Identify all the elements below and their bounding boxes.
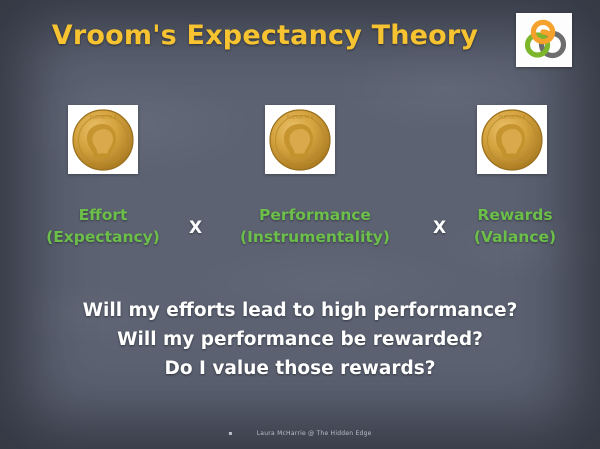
question-block: Will my efforts lead to high performance… [0, 296, 600, 383]
footer-mark-icon: ▪ [228, 430, 232, 437]
footer-credit: ▪Laura McHarrie @ The Hidden Edge [0, 430, 600, 437]
coin-image-rewards: ELIZABETH II BRITTONIARUM [477, 105, 547, 174]
slide-canvas: Vroom's Expectancy Theory [0, 0, 600, 449]
term-main-label: Effort [79, 206, 128, 224]
formula-term-effort: Effort (Expectancy) [10, 204, 196, 248]
svg-text:ELIZABETH II: ELIZABETH II [90, 114, 116, 119]
svg-text:ELIZABETH II: ELIZABETH II [287, 114, 313, 119]
term-main-label: Performance [259, 206, 371, 224]
formula-term-performance: Performance (Instrumentality) [205, 204, 425, 248]
question-line-1: Will my efforts lead to high performance… [0, 296, 600, 325]
page-title: Vroom's Expectancy Theory [0, 20, 530, 51]
the-hidden-edge-logo [516, 13, 572, 67]
formula-term-rewards: Rewards (Valance) [440, 204, 590, 248]
svg-text:ELIZABETH II: ELIZABETH II [499, 114, 525, 119]
gold-sovereign-coin-icon: ELIZABETH II BRITTONIARUM [72, 109, 134, 171]
gold-sovereign-coin-icon: ELIZABETH II BRITTONIARUM [269, 109, 331, 171]
question-line-2: Will my performance be rewarded? [0, 325, 600, 354]
term-sub-label: (Instrumentality) [205, 226, 425, 248]
term-sub-label: (Expectancy) [10, 226, 196, 248]
svg-text:BRITTONIARUM: BRITTONIARUM [496, 162, 528, 167]
question-line-3: Do I value those rewards? [0, 354, 600, 383]
footer-credit-text: Laura McHarrie @ The Hidden Edge [257, 430, 372, 437]
svg-text:BRITTONIARUM: BRITTONIARUM [284, 162, 316, 167]
coin-image-effort: ELIZABETH II BRITTONIARUM [68, 105, 138, 174]
term-main-label: Rewards [477, 206, 552, 224]
interlocking-rings-icon [522, 19, 566, 61]
term-sub-label: (Valance) [440, 226, 590, 248]
gold-sovereign-coin-icon: ELIZABETH II BRITTONIARUM [481, 109, 543, 171]
svg-text:BRITTONIARUM: BRITTONIARUM [87, 162, 119, 167]
coin-image-performance: ELIZABETH II BRITTONIARUM [265, 105, 335, 174]
multiply-operator-1: X [189, 218, 202, 238]
